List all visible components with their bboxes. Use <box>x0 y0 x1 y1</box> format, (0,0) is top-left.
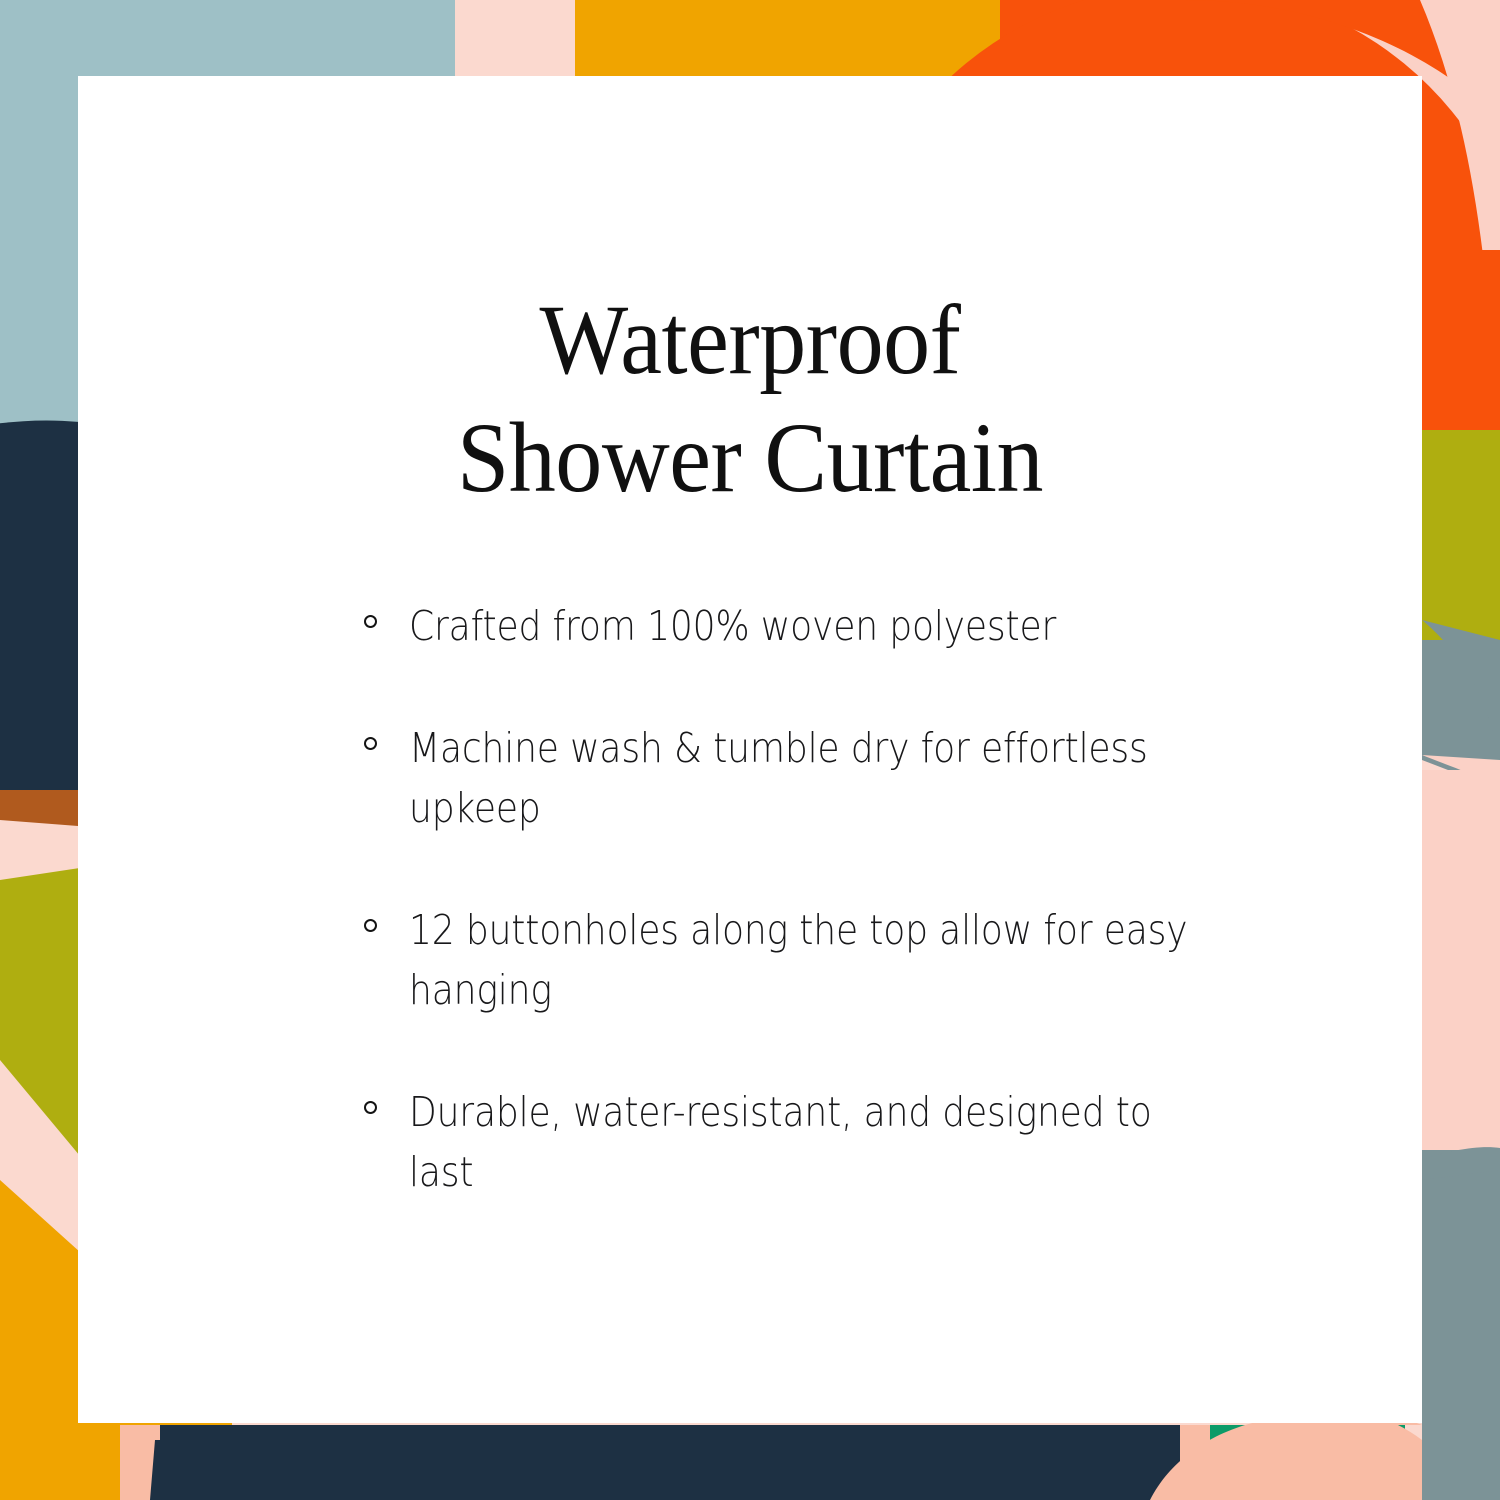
list-item: Crafted from 100% woven polyester <box>316 596 1316 656</box>
page-title-line-2: Shower Curtain <box>118 399 1381 517</box>
list-item: Machine wash & tumble dry for effortless… <box>316 718 1316 838</box>
white-content-panel: Waterproof Shower Curtain Crafted from 1… <box>78 76 1422 1423</box>
feature-bullet-list: Crafted from 100% woven polyester Machin… <box>316 596 1316 1202</box>
hollow-circle-bullet-icon <box>364 737 377 750</box>
list-item: Durable, water-resistant, and designed t… <box>316 1082 1316 1202</box>
list-item: 12 buttonholes along the top allow for e… <box>316 900 1316 1020</box>
list-item-label: Machine wash & tumble dry for effortless… <box>409 718 1207 838</box>
hollow-circle-bullet-icon <box>364 615 377 628</box>
page-title: Waterproof Shower Curtain <box>78 281 1422 517</box>
hollow-circle-bullet-icon <box>364 919 377 932</box>
list-item-label: Durable, water-resistant, and designed t… <box>409 1082 1207 1202</box>
list-item-label: Crafted from 100% woven polyester <box>409 596 1207 656</box>
hollow-circle-bullet-icon <box>364 1101 377 1114</box>
list-item-label: 12 buttonholes along the top allow for e… <box>409 900 1207 1020</box>
page-title-line-1: Waterproof <box>118 281 1381 399</box>
product-feature-card: Waterproof Shower Curtain Crafted from 1… <box>0 0 1500 1500</box>
